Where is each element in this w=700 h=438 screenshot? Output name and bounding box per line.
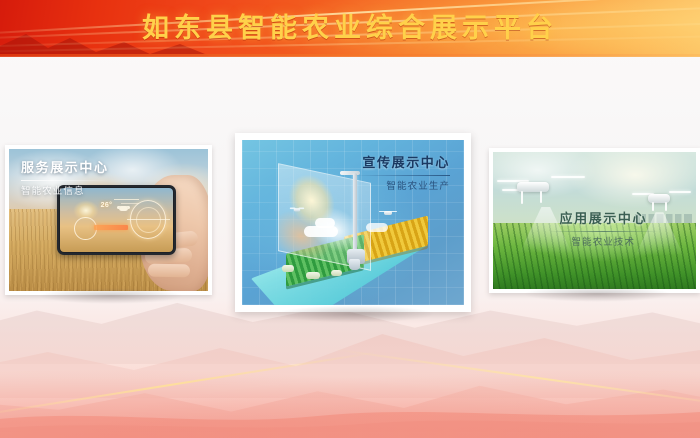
- hud-line: [127, 219, 170, 220]
- hay-bale: [331, 270, 342, 276]
- card-promotion-display-center[interactable]: 宣传展示中心 智能农业生产: [235, 133, 471, 312]
- drone-icon: [380, 209, 396, 216]
- card-service-display-center[interactable]: 26° 服务展示中心 智能农业信息: [5, 145, 212, 295]
- card-service-photo: 26° 服务展示中心 智能农业信息: [9, 149, 208, 291]
- hay-bale: [306, 272, 320, 279]
- card-application-photo: 应用展示中心 智能农业技术: [493, 152, 696, 289]
- cloud-icon: [119, 206, 128, 211]
- hud-line: [114, 199, 139, 200]
- drone-icon: [290, 207, 303, 213]
- banner-bottom-edge: [0, 54, 700, 57]
- temperature-readout: 26°: [101, 202, 113, 209]
- card-promotion-subtitle: 智能农业生产: [354, 180, 450, 193]
- drone-rotor: [669, 191, 691, 193]
- card-application-display-center[interactable]: 应用展示中心 智能农业技术: [489, 148, 700, 293]
- platform-landing-page: 如东县智能农业综合展示平台 26°: [0, 0, 700, 438]
- header-banner: 如东县智能农业综合展示平台: [0, 0, 700, 56]
- hud-ring-inner: [136, 207, 161, 233]
- card-promotion-photo: 宣传展示中心 智能农业生产: [242, 140, 464, 305]
- hud-line: [121, 203, 139, 204]
- card-application-caption: 应用展示中心 智能农业技术: [548, 210, 658, 249]
- caption-divider: [21, 180, 111, 181]
- drone-leg: [521, 191, 523, 204]
- page-title: 如东县智能农业综合展示平台: [0, 7, 700, 49]
- drone-rotor: [390, 211, 397, 212]
- hud-data-bar: [94, 225, 128, 230]
- cloud: [315, 218, 335, 228]
- water-tank: [349, 259, 360, 270]
- card-promotion-caption: 宣传展示中心 智能农业生产: [354, 154, 450, 193]
- drone-rotor: [551, 176, 585, 178]
- card-application-subtitle: 智能农业技术: [548, 236, 658, 249]
- caption-divider: [548, 231, 658, 232]
- card-service-caption: 服务展示中心 智能农业信息: [21, 159, 111, 198]
- caption-divider: [354, 175, 450, 176]
- card-promotion-title: 宣传展示中心: [354, 154, 450, 171]
- card-application-title: 应用展示中心: [548, 210, 658, 227]
- finger: [147, 264, 189, 278]
- drone-rotor: [298, 208, 304, 209]
- drone-icon: [495, 167, 588, 214]
- card-service-subtitle: 智能农业信息: [21, 185, 111, 198]
- drone-leg: [540, 191, 542, 203]
- card-service-title: 服务展示中心: [21, 159, 111, 176]
- hay-bale: [282, 265, 294, 272]
- background-glow: [0, 300, 700, 438]
- drone-leg: [665, 202, 667, 211]
- cloud: [366, 223, 388, 232]
